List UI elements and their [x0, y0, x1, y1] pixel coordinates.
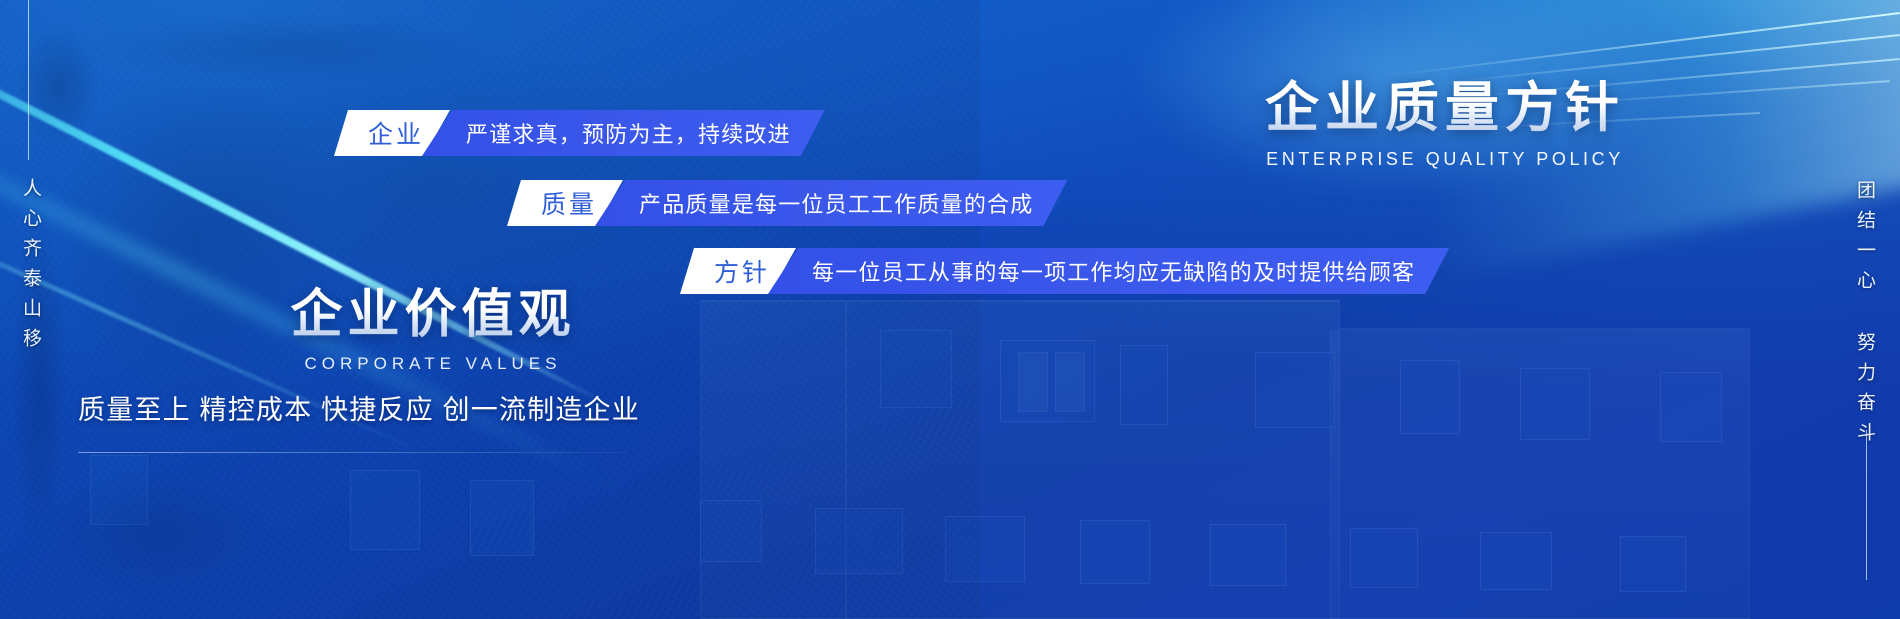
ribbon-value-enterprise: 严谨求真，预防为主，持续改进 — [422, 110, 825, 156]
corporate-values-heading: 企业价值观 CORPORATE VALUES — [198, 286, 668, 374]
quality-policy-title-cn: 企业质量方针 — [1185, 78, 1705, 138]
left-vertical-text: 人心齐泰山移 — [17, 178, 44, 358]
ribbon-row-quality: 质量 产品质量是每一位员工工作质量的合成 — [507, 180, 1067, 226]
corporate-values-rule — [78, 452, 626, 453]
right-vertical-text: 团结一心 努力奋斗 — [1851, 180, 1878, 452]
quality-policy-title-en: ENTERPRISE QUALITY POLICY — [1185, 149, 1705, 170]
ribbon-key-label: 方针 — [714, 253, 770, 289]
ribbon-value-label: 每一位员工从事的每一项工作均应无缺陷的及时提供给顾客 — [812, 255, 1415, 287]
ribbon-key-label: 质量 — [541, 185, 597, 221]
quality-policy-banner: 人心齐泰山移 团结一心 努力奋斗 企业质量方针 ENTERPRISE QUALI… — [0, 0, 1900, 619]
ribbon-value-label: 产品质量是每一位员工工作质量的合成 — [639, 187, 1033, 219]
ribbon-row-enterprise: 企业 严谨求真，预防为主，持续改进 — [334, 110, 825, 156]
left-vertical-rule — [28, 0, 29, 160]
ribbon-value-label: 严谨求真，预防为主，持续改进 — [466, 117, 791, 149]
ribbon-row-policy: 方针 每一位员工从事的每一项工作均应无缺陷的及时提供给顾客 — [680, 248, 1449, 294]
ribbon-value-quality: 产品质量是每一位员工工作质量的合成 — [595, 180, 1067, 226]
ribbon-value-policy: 每一位员工从事的每一项工作均应无缺陷的及时提供给顾客 — [768, 248, 1449, 294]
corporate-values-title-en: CORPORATE VALUES — [198, 354, 668, 374]
right-vertical-rule — [1866, 430, 1867, 580]
corporate-values-slogan: 质量至上 精控成本 快捷反应 创一流制造企业 — [78, 388, 678, 427]
corporate-values-title-cn: 企业价值观 — [198, 286, 668, 344]
quality-policy-heading: 企业质量方针 ENTERPRISE QUALITY POLICY — [1185, 78, 1705, 170]
ribbon-key-label: 企业 — [368, 115, 424, 151]
